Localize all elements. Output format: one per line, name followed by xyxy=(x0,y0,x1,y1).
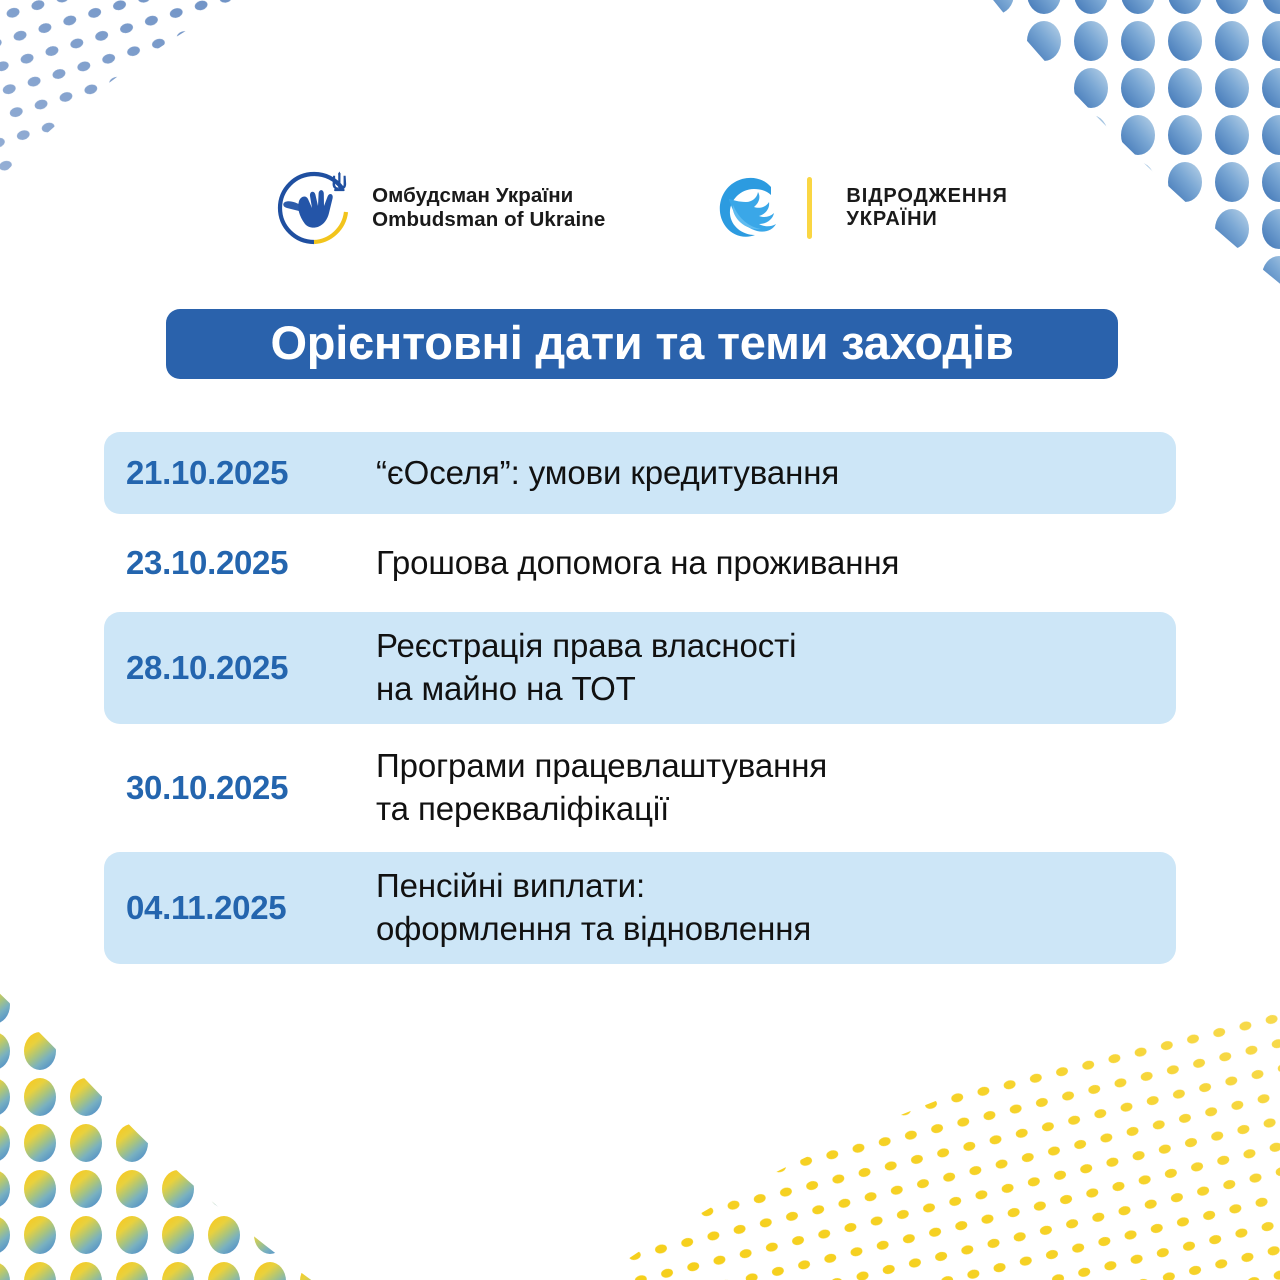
title-banner: Орієнтовні дати та теми заходів xyxy=(166,309,1118,379)
row-date: 28.10.2025 xyxy=(126,649,376,687)
logo-divider-bar xyxy=(807,177,812,239)
row-spacer xyxy=(104,724,1176,732)
row-spacer xyxy=(104,844,1176,852)
ombudsman-logo-text: Омбудсман України Ombudsman of Ukraine xyxy=(372,184,605,232)
row-date: 04.11.2025 xyxy=(126,889,376,927)
vidrodzhennya-logo: ВІДРОДЖЕННЯ УКРАЇНИ xyxy=(709,169,1007,247)
row-topic: Програми працевлаштування та перекваліфі… xyxy=(376,745,1176,831)
row-topic: “єОселя”: умови кредитування xyxy=(376,452,1176,495)
logo-bar: Омбудсман України Ombudsman of Ukraine В… xyxy=(0,160,1280,256)
vidrodzhennya-logo-text: ВІДРОДЖЕННЯ УКРАЇНИ xyxy=(846,185,1007,231)
table-row: 04.11.2025 Пенсійні виплати: оформлення … xyxy=(104,852,1176,964)
row-date: 21.10.2025 xyxy=(126,454,376,492)
schedule-list: 21.10.2025 “єОселя”: умови кредитування … xyxy=(104,432,1176,964)
poster-canvas: Омбудсман України Ombudsman of Ukraine В… xyxy=(0,0,1280,1280)
decoration-bottom-right-yellow-halftone xyxy=(610,970,1280,1280)
ombudsman-logo-line1: Омбудсман України xyxy=(372,184,605,208)
row-topic: Пенсійні виплати: оформлення та відновле… xyxy=(376,865,1176,951)
table-row: 28.10.2025 Реєстрація права власності на… xyxy=(104,612,1176,724)
row-spacer xyxy=(104,514,1176,522)
row-date: 30.10.2025 xyxy=(126,769,376,807)
table-row: 23.10.2025 Грошова допомога на проживанн… xyxy=(104,522,1176,604)
vidrodzhennya-logo-line2: УКРАЇНИ xyxy=(846,208,1007,231)
row-spacer xyxy=(104,604,1176,612)
row-date: 23.10.2025 xyxy=(126,544,376,582)
table-row: 21.10.2025 “єОселя”: умови кредитування xyxy=(104,432,1176,514)
ombudsman-logo: Омбудсман України Ombudsman of Ukraine xyxy=(272,166,605,250)
row-topic: Грошова допомога на проживання xyxy=(376,542,1176,585)
phoenix-bird-circle-logo-icon xyxy=(709,169,787,247)
table-row: 30.10.2025 Програми працевлаштування та … xyxy=(104,732,1176,844)
ombudsman-hand-circle-logo-icon xyxy=(272,166,356,250)
vidrodzhennya-logo-line1: ВІДРОДЖЕННЯ xyxy=(846,185,1007,208)
page-title: Орієнтовні дати та теми заходів xyxy=(270,319,1013,369)
row-topic: Реєстрація права власності на майно на Т… xyxy=(376,625,1176,711)
ombudsman-logo-line2: Ombudsman of Ukraine xyxy=(372,208,605,232)
